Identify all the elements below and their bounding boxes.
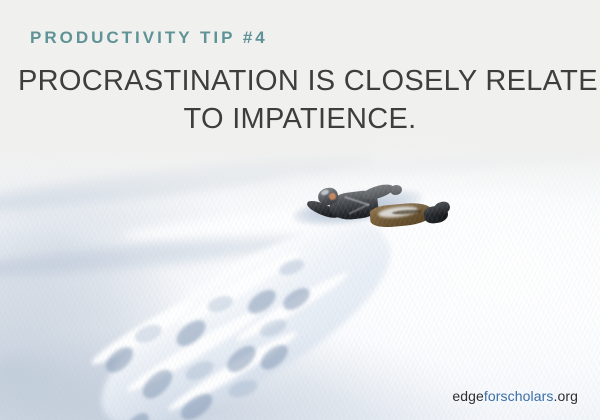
watermark-edge: edge (452, 388, 484, 404)
watermark-tld: .org (553, 388, 578, 404)
headline-line-2: TO IMPATIENCE. (18, 100, 582, 138)
productivity-tip-card: PRODUCTIVITY TIP #4 PROCRASTINATION IS C… (0, 0, 600, 420)
site-watermark[interactable]: edgeforscholars.org (452, 388, 578, 404)
eyebrow-label: PRODUCTIVITY TIP #4 (30, 28, 268, 48)
watermark-forscholars: forscholars (484, 388, 554, 404)
headline: PROCRASTINATION IS CLOSELY RELATED TO IM… (0, 62, 600, 139)
headline-line-1: PROCRASTINATION IS CLOSELY RELATED (18, 62, 582, 100)
text-layer: PRODUCTIVITY TIP #4 PROCRASTINATION IS C… (0, 0, 600, 420)
